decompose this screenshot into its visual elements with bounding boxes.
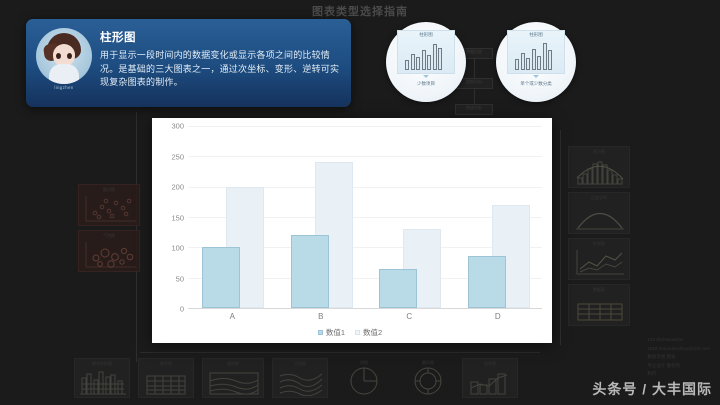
legend-swatch [318,330,323,335]
area-chart-icon [206,368,262,396]
y-axis-tick: 150 [171,213,184,222]
page-title: 图表类型选择指南 [0,3,720,19]
badge-bar [433,44,437,70]
plot-area [188,126,542,309]
bg-thumb-bar-cluster: 簇状柱形图 [74,358,130,398]
bg-thumb-table: 数据表 [568,284,630,326]
stacked-bar-icon [142,368,192,396]
bar-cluster-icon [78,368,128,396]
legend-item-数值2[interactable]: 数值2 [355,327,382,338]
scatter-icon [82,194,138,224]
chart-legend: 数值1数值2 [158,325,542,339]
table-icon [572,294,628,324]
bg-flow-node: 构成分析 [455,104,493,115]
x-axis-label: D [454,309,543,325]
badge-bar [405,60,409,70]
combo-chart-icon [466,368,516,396]
y-axis-tick: 100 [171,244,184,253]
badge-bar [411,54,415,70]
pie-chart-icon [342,367,392,395]
x-axis-label: B [277,309,366,325]
card-description: 用于显示一段时间内的数据变化或显示各项之间的比较情况。是基础的三大图表之一，通过… [100,49,343,90]
badge-bar [422,50,426,70]
y-axis-tick: 0 [180,305,184,314]
bg-thumb-line: 折线图 [568,238,630,280]
grid-line [188,126,542,127]
badge-bars [405,44,442,70]
badge-bar [438,48,442,70]
info-card-text: 柱形图 用于显示一段时间内的数据变化或显示各项之间的比较情况。是基础的三大图表之… [96,25,343,90]
badge-title: 柱形图 [508,32,564,38]
badge-bar [427,55,431,70]
line-chart-icon [572,248,628,278]
bg-thumb-pie: 饼图 [336,358,392,398]
badge-thumbnail: 柱形图 [507,30,565,74]
badge-bar [526,58,530,70]
bg-thumb-scatter: 散点图 [78,184,140,226]
card-heading: 柱形图 [100,29,343,45]
bg-divider-bottom [140,352,540,353]
grid-line [188,156,542,157]
badge-arrow-icon [533,75,539,78]
avatar-eye-right [67,53,72,59]
bar-chart-panel: 050100150200250300 ABCD 数值1数值2 [152,118,552,343]
y-axis: 050100150200250300 [158,126,188,309]
bg-flow-connector [474,59,475,78]
legend-swatch [355,330,360,335]
badge-thumbnail: 柱形图 [397,30,455,74]
badge-bar [537,56,541,70]
badge-bar [515,59,519,70]
avatar-caption: lingzhen [32,85,96,90]
bg-thumb-histogram: 直方图 [568,146,630,188]
bg-flow-connector [474,89,475,104]
badge-bars [515,43,552,70]
bg-thumb-stacked: 堆积图 [138,358,194,398]
avatar-eye-left [56,53,61,59]
bubble-icon [82,240,138,270]
bar-A-数值1[interactable] [202,247,240,308]
plot-area-wrapper: 050100150200250300 [158,126,542,309]
avatar-image [36,28,92,84]
badge-title: 柱形图 [398,32,454,38]
x-axis-label: A [188,309,277,325]
chart-badge-few-items[interactable]: 柱形图 少数项目 [386,22,466,102]
y-axis-tick: 250 [171,152,184,161]
avatar-face [53,44,75,66]
bg-divider-right [560,130,561,345]
stream-graph-icon [276,368,326,396]
badge-bar [521,53,525,70]
chart-type-info-card: lingzhen 柱形图 用于显示一段时间内的数据变化或显示各项之间的比较情况。… [26,19,351,107]
background-watermark-lines: 123 dnzhiwuwebs 2019 hua.lixianshiyu@100… [647,336,710,379]
badge-bar [548,50,552,70]
badge-caption: 少数项目 [417,81,435,87]
bg-thumb-bell: 正态分布 [568,192,630,234]
y-axis-tick: 200 [171,183,184,192]
y-axis-tick: 300 [171,122,184,131]
x-axis-label: C [365,309,454,325]
badge-bar [532,49,536,70]
histogram-icon [572,156,628,186]
bg-thumb-bubble: 气泡图 [78,230,140,272]
chart-badge-single-category[interactable]: 柱形图 单个或少数分类 [496,22,576,102]
legend-label: 数值1 [326,328,345,337]
legend-item-数值1[interactable]: 数值1 [318,327,345,338]
badge-caption: 单个或少数分类 [520,81,552,87]
bar-C-数值1[interactable] [379,269,417,308]
bg-thumb-stream: 河流图 [272,358,328,398]
legend-label: 数值2 [363,328,382,337]
badge-bar [416,57,420,70]
bg-thumb-donut: 圆环图 [400,358,456,398]
badge-bar [543,43,547,70]
avatar-body [49,64,79,84]
bar-B-数值1[interactable] [291,235,329,308]
bg-thumb-combo: 组合图 [462,358,518,398]
badge-arrow-icon [423,75,429,78]
watermark: 头条号 / 大丰国际 [592,379,712,399]
x-axis: ABCD [158,309,542,325]
donut-chart-icon [406,367,456,395]
bar-D-数值1[interactable] [468,256,506,308]
bg-thumb-area: 面积图 [202,358,264,398]
y-axis-tick: 50 [176,274,184,283]
avatar: lingzhen [32,25,96,90]
bell-curve-icon [572,202,628,232]
